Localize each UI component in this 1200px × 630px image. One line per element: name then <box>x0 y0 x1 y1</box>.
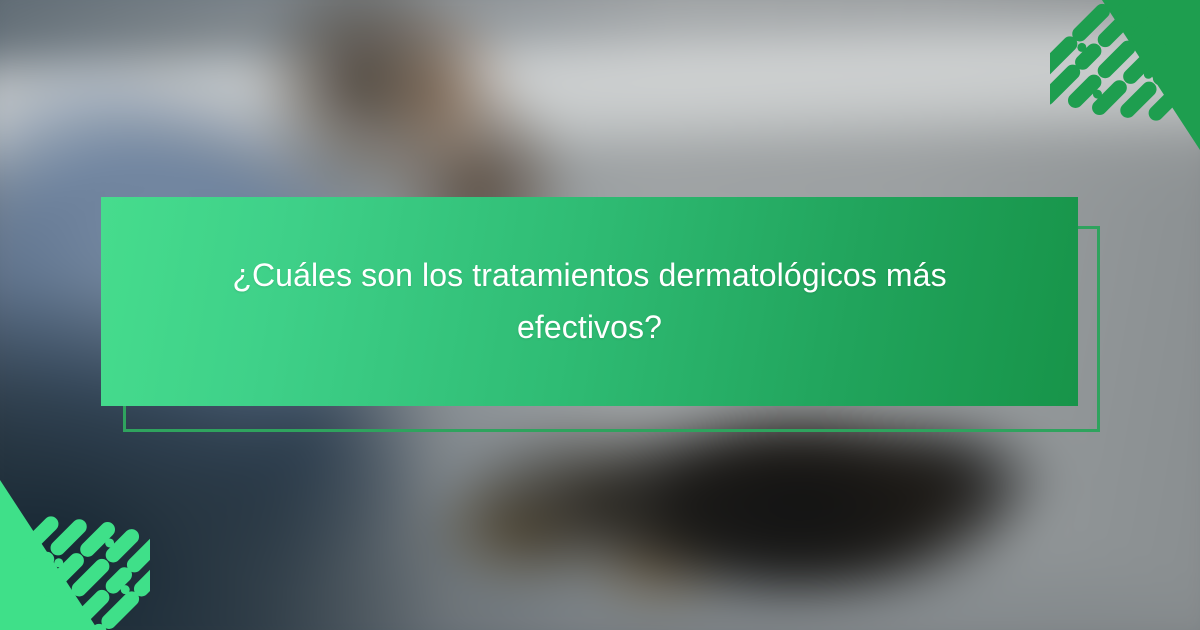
page-title: ¿Cuáles son los tratamientos dermatológi… <box>195 250 985 354</box>
headline-card: ¿Cuáles son los tratamientos dermatológi… <box>101 197 1078 406</box>
banner-stage: ¿Cuáles son los tratamientos dermatológi… <box>0 0 1200 630</box>
